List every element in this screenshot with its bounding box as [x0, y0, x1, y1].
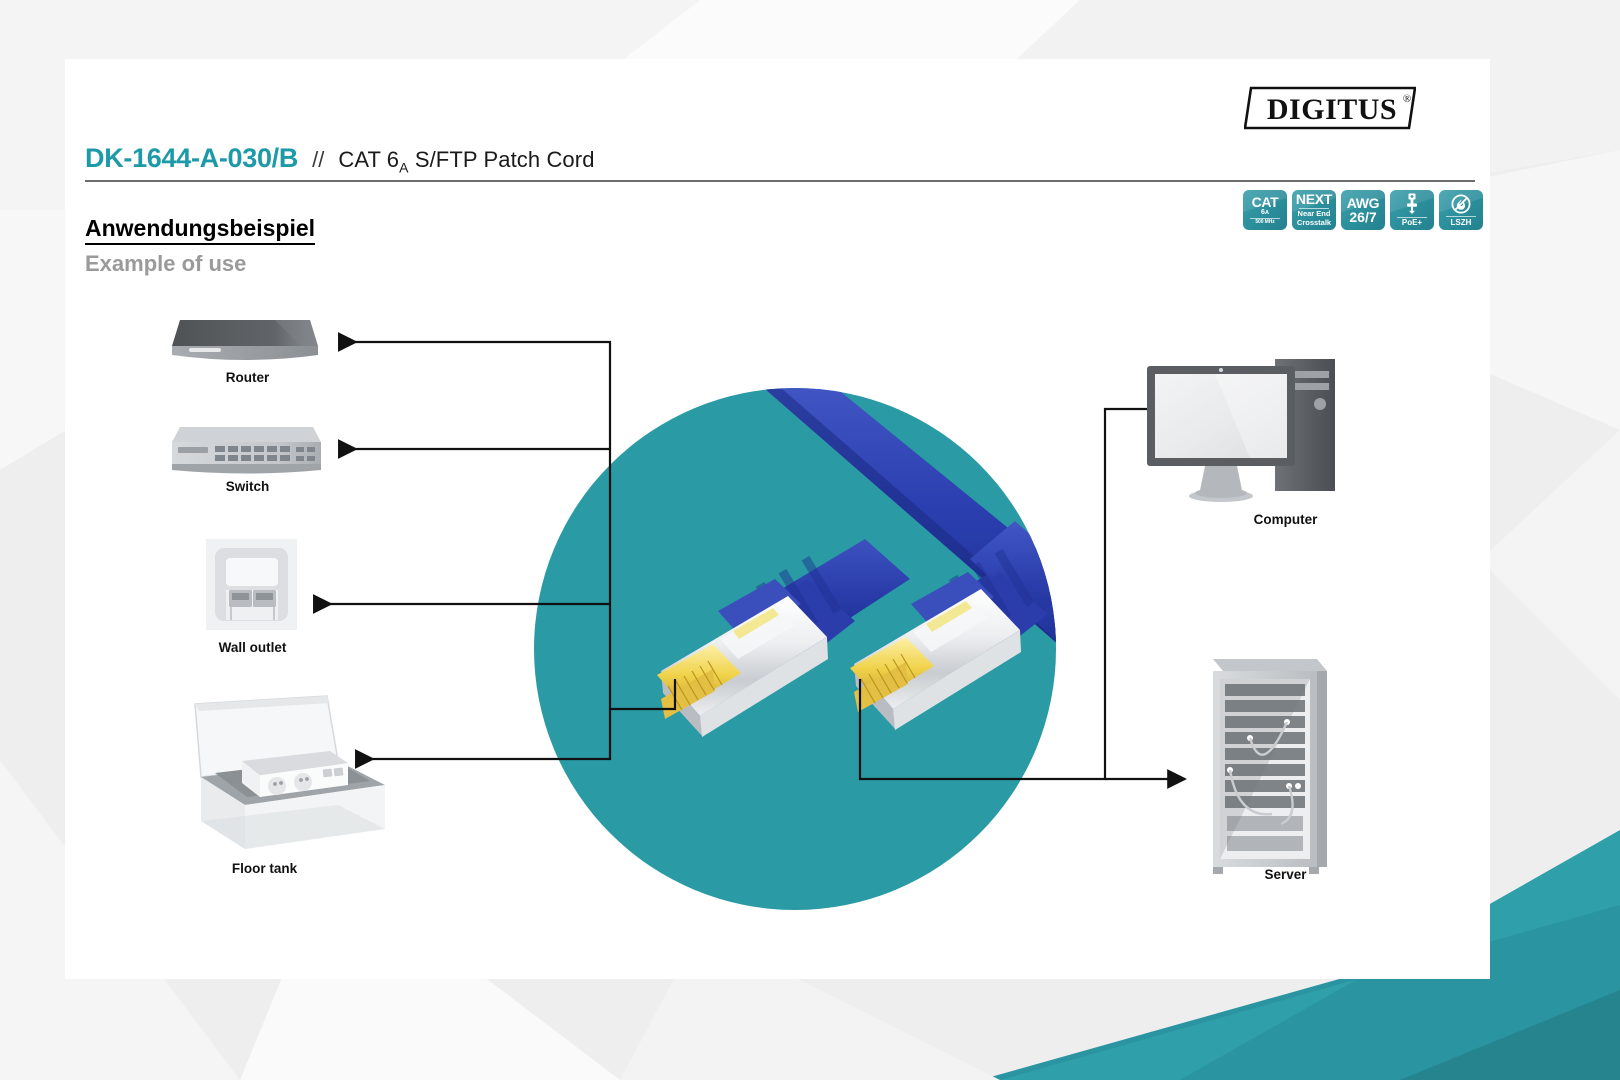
switch-illustration [172, 427, 321, 474]
router-label: Router [180, 370, 315, 385]
cat-badge-category: 6A [1261, 209, 1269, 217]
cat-6a-badge: CAT 6A 500 MHz [1243, 190, 1287, 230]
title-separator: // [312, 147, 324, 173]
logo-trademark-icon: ® [1403, 93, 1411, 105]
switch-label: Switch [180, 479, 315, 494]
awg-badge-value: 26/7 [1349, 210, 1376, 224]
lszh-badge-label: LSZH [1451, 219, 1472, 227]
product-name-subscript: A [399, 159, 408, 175]
router-illustration [172, 320, 318, 360]
computer-illustration [1147, 359, 1335, 502]
product-title-row: DK-1644-A-030/B // CAT 6A S/FTP Patch Co… [85, 143, 1475, 179]
floor-tank-illustration [195, 696, 385, 849]
computer-label: Computer [1218, 512, 1353, 527]
lszh-badge: LSZH [1439, 190, 1483, 230]
wall-outlet-label: Wall outlet [185, 640, 320, 655]
title-divider [85, 180, 1475, 182]
product-name-prefix: CAT 6 [338, 147, 399, 172]
awg-badge-title: AWG [1347, 196, 1380, 210]
rj45-plug-icon [1404, 193, 1420, 214]
no-flame-icon [1451, 194, 1471, 214]
digitus-logo: DIGITUS ® [1244, 86, 1416, 130]
product-description: CAT 6A S/FTP Patch Cord [338, 147, 594, 175]
lszh-badge-rule [1446, 216, 1476, 217]
cat-badge-title: CAT [1252, 195, 1279, 209]
product-name-suffix: S/FTP Patch Cord [409, 147, 595, 172]
next-badge-subtitle: Near EndCrosstalk [1297, 210, 1331, 227]
server-illustration [1213, 659, 1327, 874]
poe-badge: PoE+ [1390, 190, 1434, 230]
cat-badge-frequency: 500 MHz [1255, 220, 1274, 225]
logo-wordmark: DIGITUS [1267, 93, 1397, 126]
poe-badge-label: PoE+ [1402, 219, 1422, 227]
wall-outlet-illustration [206, 539, 297, 630]
awg-badge: AWG 26/7 [1341, 190, 1385, 230]
next-badge: NEXT Near EndCrosstalk [1292, 190, 1336, 230]
heading-german: Anwendungsbeispiel [85, 215, 315, 245]
server-label: Server [1218, 867, 1353, 882]
section-heading: Anwendungsbeispiel Example of use [85, 215, 315, 277]
product-code: DK-1644-A-030/B [85, 143, 298, 174]
feature-badge-row: CAT 6A 500 MHz NEXT Near EndCrosstalk AW… [1243, 190, 1483, 230]
heading-english: Example of use [85, 251, 315, 277]
floor-tank-label: Floor tank [197, 861, 332, 876]
next-badge-title: NEXT [1296, 192, 1332, 206]
